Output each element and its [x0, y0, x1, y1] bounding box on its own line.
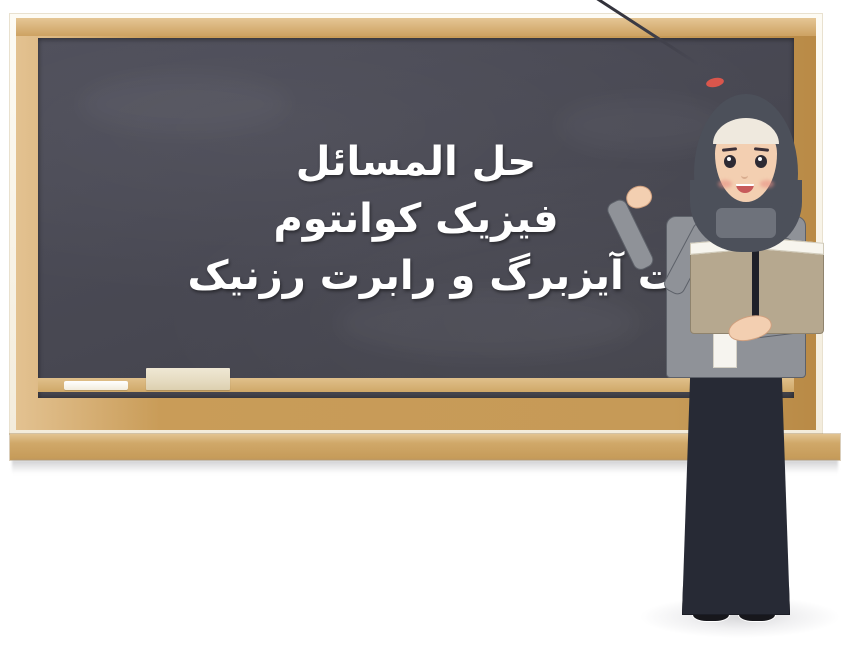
- eye-left: [724, 155, 736, 168]
- neck-scarf: [716, 208, 776, 238]
- eye-right: [755, 155, 767, 168]
- chalk-smudge: [80, 74, 290, 134]
- chalk-stick: [64, 381, 128, 390]
- long-skirt: [682, 361, 790, 615]
- teacher-illustration: [620, 88, 865, 668]
- cover-scene: حل المسائل فیزیک کوانتوم رابرت آیزبرگ و …: [0, 0, 865, 668]
- cheek-right: [760, 180, 774, 188]
- cheek-left: [718, 180, 732, 188]
- board-eraser: [146, 368, 230, 390]
- nose: [741, 172, 748, 179]
